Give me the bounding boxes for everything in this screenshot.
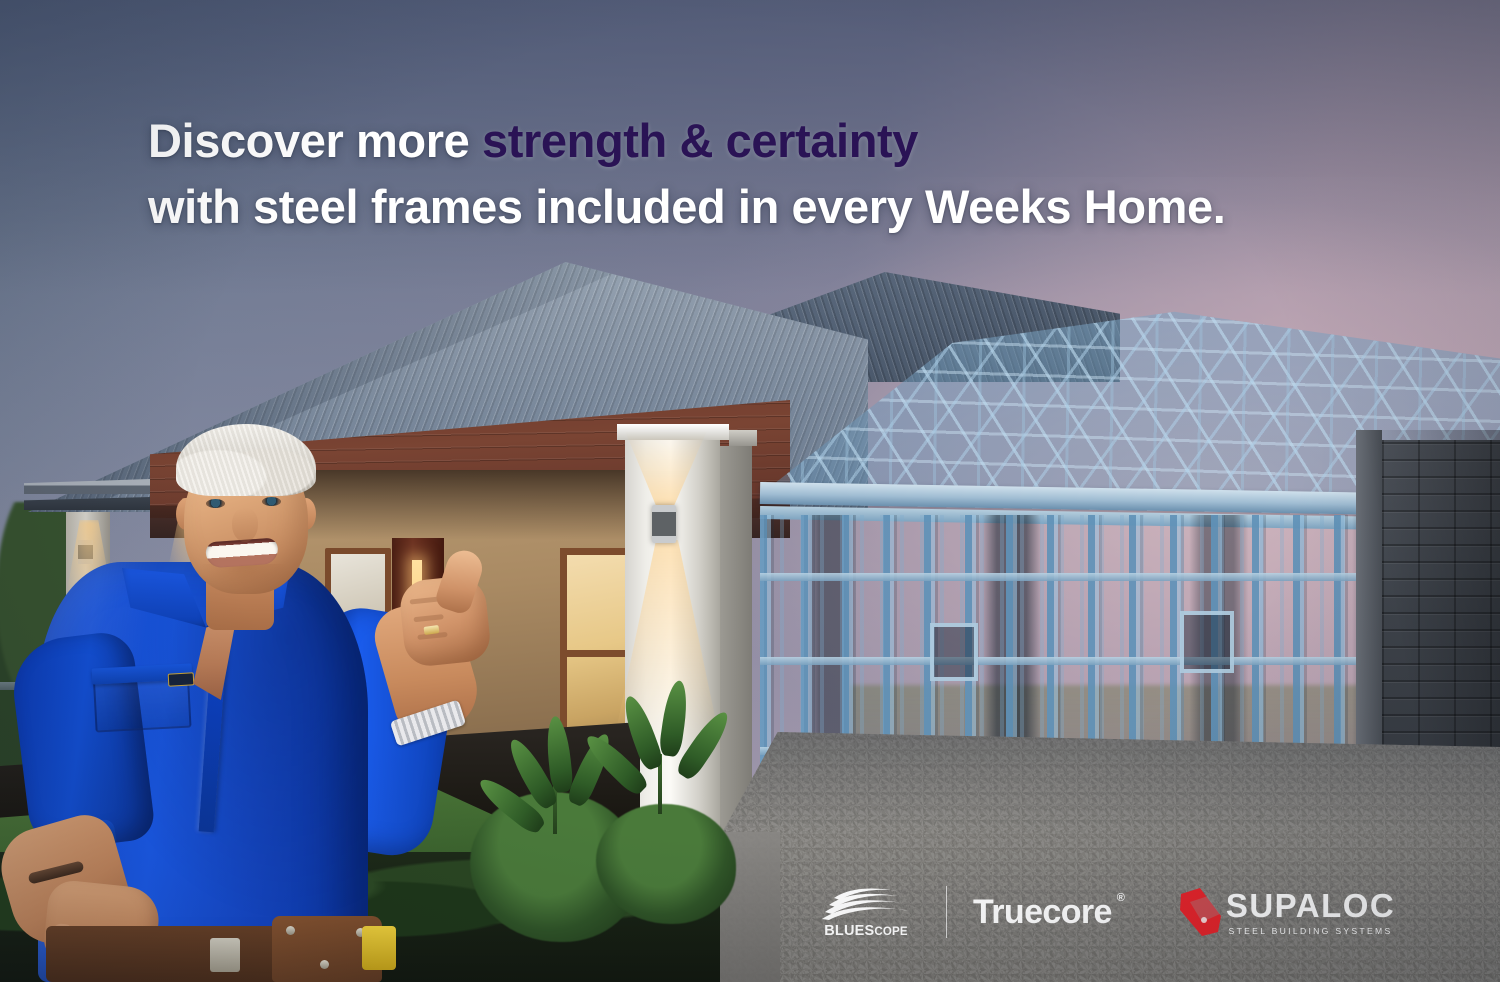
supaloc-text-block: SUPALOC STEEL BUILDING SYSTEMS [1226, 889, 1395, 936]
eye-right [262, 497, 281, 506]
shirt-brand-tag [168, 672, 195, 686]
bluescope-word-s: S [865, 923, 875, 939]
pillar-wall-light [652, 505, 676, 543]
supaloc-tagline: STEEL BUILDING SYSTEMS [1226, 926, 1395, 936]
plant-strelitzia-b [600, 674, 720, 814]
supaloc-logo: SUPALOC STEEL BUILDING SYSTEMS [1178, 886, 1395, 938]
bluescope-wordmark: BLUESCOPE [824, 923, 908, 939]
tape-measure [362, 926, 396, 970]
bluescope-waves-icon [820, 886, 912, 920]
hair-texture [176, 424, 316, 496]
truecore-wordmark: Truecore [973, 895, 1112, 929]
registered-trademark-icon: ® [1117, 892, 1125, 904]
bluescope-word-blue: BLUE [824, 923, 864, 939]
tradesman-figure [10, 382, 480, 982]
headline-line-2: with steel frames included in every Week… [148, 174, 1348, 240]
plant-strelitzia-a [500, 704, 610, 834]
truecore-logo: Truecore ® [973, 895, 1124, 929]
supaloc-wordmark: SUPALOC [1226, 889, 1395, 922]
supaloc-slash-icon [1178, 886, 1224, 938]
logo-divider [946, 886, 947, 938]
headline-line1-lead: Discover more [148, 114, 482, 167]
chin-shadow [202, 564, 286, 590]
pillar-cap-side [729, 430, 757, 446]
frame-window-opening-b [1180, 611, 1234, 673]
bluescope-logo: BLUESCOPE [812, 886, 920, 939]
plant-leaf [658, 679, 690, 757]
knuckle-line [413, 614, 443, 622]
headline-line-1: Discover more strength & certainty [148, 108, 1348, 174]
pouch-rivet [320, 960, 329, 969]
frame-window-opening-a [930, 623, 978, 681]
pillar-side-face [720, 446, 752, 846]
hero-banner: Discover more strength & certainty with … [0, 0, 1500, 982]
pouch-rivet [286, 926, 295, 935]
bluescope-word-cope: COPE [874, 926, 907, 938]
partner-logo-bar: BLUESCOPE Truecore ® SUPALOC STEEL BUILD… [812, 880, 1395, 944]
headline: Discover more strength & certainty with … [148, 108, 1348, 240]
nose [232, 508, 258, 542]
belt-buckle [210, 938, 240, 972]
eye-left [206, 499, 225, 508]
headline-accent: strength & certainty [482, 114, 918, 167]
